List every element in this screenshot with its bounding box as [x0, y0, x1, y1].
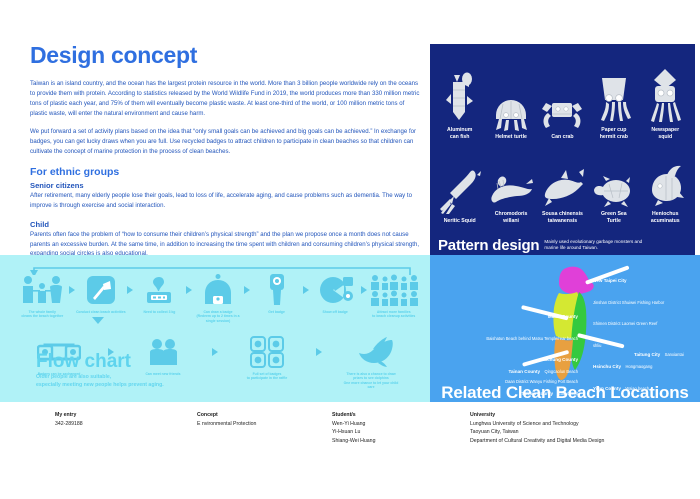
flow-step: The whole family cleans the beach togeth…	[16, 273, 69, 319]
map-place: Qingcaolun Beach	[545, 369, 578, 374]
map-county: Miaoli County	[548, 314, 578, 319]
pattern-item: Chromodoris willani	[486, 144, 536, 224]
map-place: Jinshan District Shuiwei Fishing Harbor	[593, 300, 664, 305]
flow-step: Get badge	[250, 273, 303, 314]
flow-step: Need to collect 3 kg	[133, 273, 186, 314]
credit-line: E nvironmental Protection	[197, 420, 256, 428]
beach-cleaning-icon	[87, 273, 115, 307]
group-text-senior: After retirement, many elderly people lo…	[30, 191, 422, 211]
credit-line: Lunghwa University of Science and Techno…	[470, 420, 604, 428]
map-label-taitung: Taitung City Sanxiantai	[634, 341, 700, 363]
dolphin-icon	[348, 335, 394, 369]
family-icon	[19, 273, 65, 307]
pattern-item: Sousa chinensis taiwanensis	[537, 144, 587, 224]
group-heading-senior: Senior citizens	[30, 181, 422, 190]
flow-arrow-icon	[316, 348, 322, 356]
pattern-design-title: Pattern design	[438, 238, 539, 253]
flow-caption: Get badge	[268, 310, 285, 314]
flow-step: There is also a chance to draw prizes to…	[342, 335, 400, 390]
flow-step: Can draw a badge (Redeem up to 2 times i…	[192, 273, 245, 323]
neritic-squid-icon	[438, 157, 482, 215]
show-off-badge-icon	[315, 273, 355, 307]
map-county: New Taipei City	[593, 278, 627, 283]
poster-canvas: Design concept Taiwan is an island count…	[0, 0, 700, 499]
flow-caption: Can draw a badge (Redeem up to 2 times i…	[192, 310, 245, 323]
clean-beach-map-panel: New Taipei City Jinshan District Shuiwei…	[430, 255, 700, 402]
page-title: Design concept	[30, 44, 422, 67]
map-place: shliu	[593, 343, 601, 348]
credit-heading: University	[470, 411, 604, 419]
pattern-label: Helmet turtle	[495, 134, 527, 141]
credit-line: 342-289188	[55, 420, 83, 428]
map-place: Shimen District Laomei Green Reef	[593, 321, 657, 326]
flow-caption: Attract more families to beach cleanup a…	[372, 310, 415, 319]
pattern-label: Can crab	[551, 134, 573, 141]
pattern-label: Paper cup hermit crab	[600, 127, 628, 140]
credit-heading: Student/s	[332, 411, 375, 419]
chromodoris-willani-icon	[488, 150, 534, 208]
flow-caption: Need to collect 3 kg	[144, 310, 176, 314]
pattern-item: Green Sea Turtle	[589, 144, 639, 224]
helmet-turtle-icon	[492, 73, 530, 131]
map-label-group-north: New Taipei City Jinshan District Shuiwei…	[593, 267, 697, 397]
flow-arrow-down-icon	[92, 317, 104, 324]
get-badge-icon	[266, 273, 288, 307]
credit-line: Yi-Hsuan Lu	[332, 428, 375, 436]
credit-entry: My entry 342-289188	[55, 411, 83, 428]
pattern-design-subtitle: Mainly used evolutionary garbage monster…	[544, 239, 652, 253]
flow-step: Show off badge	[309, 273, 362, 314]
pattern-label: Heniochus acuminatus	[651, 211, 680, 224]
credit-heading: My entry	[55, 411, 83, 419]
map-place: Baishatun Beach behind Matsu Temple/rear…	[486, 336, 578, 341]
map-county: Taitung City	[634, 352, 660, 357]
credit-students: Student/s Wen-Yi Huang Yi-Hsuan Lu Shian…	[332, 411, 375, 445]
flow-caption: Show off badge	[323, 310, 348, 314]
pattern-design-panel: Aluminum can fish Helmet turtle	[430, 44, 695, 255]
flow-step: Conduct clean beach activities	[75, 273, 128, 314]
flow-chart-title-block: Flow chart Older people are also suitabl…	[36, 352, 164, 390]
ethnic-groups-heading: For ethnic groups	[30, 166, 422, 178]
flow-caption: Conduct clean beach activities	[76, 310, 126, 314]
credits-footer: My entry 342-289188 Concept E nvironment…	[0, 408, 700, 458]
credit-concept: Concept E nvironmental Protection	[197, 411, 256, 428]
map-place: Sanxiantai	[665, 352, 684, 357]
map-county: Hsinchu City	[593, 364, 621, 369]
sousa-chinensis-icon	[539, 150, 585, 208]
pattern-item: Helmet turtle	[486, 52, 536, 140]
pattern-item: Aluminum can fish	[435, 52, 485, 140]
full-badge-set-icon	[250, 335, 284, 369]
flow-chart-subtitle: Older people are also suitable, especial…	[36, 374, 164, 390]
pattern-row-trash-monsters: Aluminum can fish Helmet turtle	[430, 52, 695, 140]
pattern-label: Green Sea Turtle	[601, 211, 627, 224]
green-sea-turtle-icon	[592, 150, 636, 208]
newspaper-squid-icon	[649, 66, 681, 124]
map-title: Related Clean Beach Locations	[430, 384, 700, 401]
pattern-row-marine-life: Neritic Squid Chromodoris willani	[430, 144, 695, 224]
credit-heading: Concept	[197, 411, 256, 419]
can-crab-icon	[540, 73, 584, 131]
gachapon-machine-icon	[201, 273, 235, 307]
pattern-label: Sousa chinensis taiwanensis	[542, 211, 583, 224]
pattern-item: Paper cup hermit crab	[589, 52, 639, 140]
pattern-label: Aluminum can fish	[447, 127, 472, 140]
aluminum-can-fish-icon	[445, 66, 475, 124]
concept-paragraph-2: We put forward a set of activity plans b…	[30, 127, 422, 157]
credit-line: Shiang-Wei Huang	[332, 437, 375, 445]
flow-step: Full set of badges to participate in the…	[238, 335, 296, 381]
flow-chart-title: Flow chart	[36, 352, 164, 371]
more-families-icon	[370, 273, 418, 307]
pattern-item: Can crab	[537, 52, 587, 140]
flow-caption: Full set of badges to participate in the…	[247, 372, 288, 381]
credit-line: Taoyuan City, Taiwan	[470, 428, 604, 436]
heniochus-acuminatus-icon	[646, 150, 684, 208]
credit-line: Wen-Yi Huang	[332, 420, 375, 428]
group-heading-child: Child	[30, 220, 422, 229]
pattern-label: Neritic Squid	[444, 218, 476, 225]
scale-icon	[145, 273, 173, 307]
pattern-item: Heniochus acuminatus	[640, 144, 690, 224]
pattern-label: Newspaper squid	[651, 127, 679, 140]
map-place: Hongmaogang	[626, 364, 653, 369]
pattern-label: Chromodoris willani	[495, 211, 528, 224]
concept-paragraph-1: Taiwan is an island country, and the oce…	[30, 79, 422, 118]
credit-line: Department of Cultural Creativity and Di…	[470, 437, 604, 445]
design-concept-section: Design concept Taiwan is an island count…	[30, 44, 422, 254]
map-county: Tainan County	[509, 369, 541, 374]
credit-university: University Lunghwa University of Science…	[470, 411, 604, 445]
flow-caption: The whole family cleans the beach togeth…	[21, 310, 63, 319]
flow-arrow-icon	[212, 348, 218, 356]
flow-caption: There is also a chance to draw prizes to…	[342, 372, 400, 390]
pattern-item: Neritic Squid	[435, 144, 485, 224]
flow-row-1: The whole family cleans the beach togeth…	[16, 273, 420, 323]
paper-cup-hermit-crab-icon	[597, 66, 631, 124]
pattern-design-footer: Pattern design Mainly used evolutionary …	[430, 238, 695, 253]
flow-step: Attract more families to beach cleanup a…	[367, 273, 420, 319]
pattern-item: Newspaper squid	[640, 52, 690, 140]
flow-chart-panel: The whole family cleans the beach togeth…	[0, 255, 430, 402]
